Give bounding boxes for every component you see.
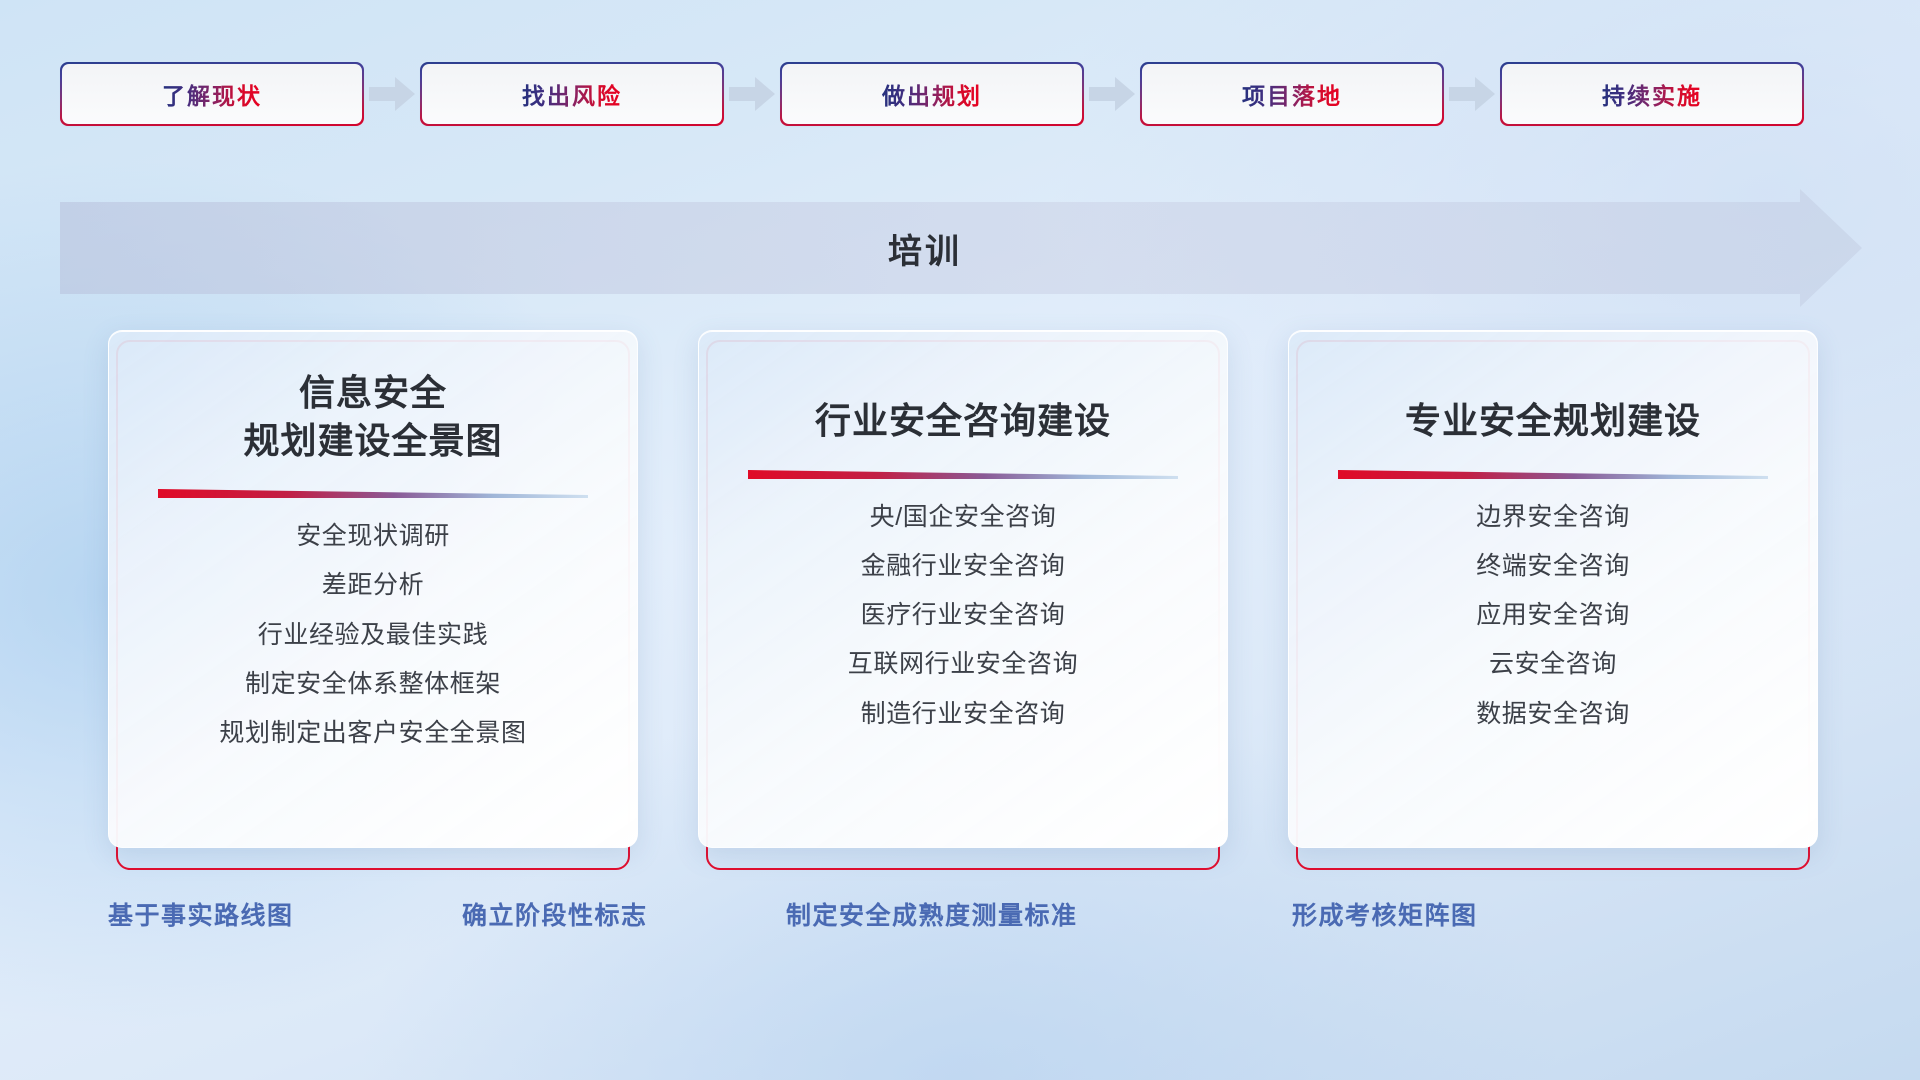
card-list: 央/国企安全咨询 金融行业安全咨询 医疗行业安全咨询 互联网行业安全咨询 制造行…	[848, 497, 1078, 735]
list-item: 金融行业安全咨询	[861, 546, 1066, 587]
list-item: 医疗行业安全咨询	[861, 595, 1066, 636]
card-surface[interactable]: 信息安全 规划建设全景图 安全现状调研 差距分析 行业经验及最佳实践 制定安全体…	[108, 330, 638, 848]
gradient-divider-icon	[158, 486, 588, 502]
gradient-divider-icon	[1338, 467, 1768, 483]
card-2: 行业安全咨询建设 央/国企安全咨询 金融行业安全咨询 医疗行业安全咨询 互联网行…	[698, 330, 1228, 870]
card-1: 信息安全 规划建设全景图 安全现状调研 差距分析 行业经验及最佳实践 制定安全体…	[108, 330, 638, 870]
list-item: 互联网行业安全咨询	[848, 644, 1078, 685]
card-surface[interactable]: 专业安全规划建设 边界安全咨询 终端安全咨询 应用安全咨询 云安全咨询 数据安全…	[1288, 330, 1818, 848]
card-title: 专业安全规划建设	[1405, 369, 1701, 445]
gradient-divider-icon	[748, 467, 1178, 483]
list-item: 应用安全咨询	[1476, 595, 1630, 636]
list-item: 制造行业安全咨询	[861, 694, 1066, 735]
arrow-right-icon	[1082, 64, 1142, 124]
step-box-1[interactable]: 了解现状	[62, 64, 362, 124]
step-label: 持续实施	[1602, 77, 1702, 111]
arrow-right-icon	[1442, 64, 1502, 124]
step-label: 找出风险	[522, 77, 622, 111]
footer-label-row: 基于事实路线图 确立阶段性标志 制定安全成熟度测量标准 形成考核矩阵图	[0, 896, 1920, 956]
step-box-3[interactable]: 做出规划	[782, 64, 1082, 124]
list-item: 云安全咨询	[1489, 644, 1617, 685]
arrow-right-icon	[362, 64, 422, 124]
card-title: 行业安全咨询建设	[815, 369, 1111, 445]
step-box-2[interactable]: 找出风险	[422, 64, 722, 124]
list-item: 数据安全咨询	[1476, 694, 1630, 735]
banner-title: 培训	[60, 202, 1860, 294]
list-item: 终端安全咨询	[1476, 546, 1630, 587]
step-box-5[interactable]: 持续实施	[1502, 64, 1802, 124]
footer-label-3: 制定安全成熟度测量标准	[786, 896, 1078, 932]
arrow-right-icon	[722, 64, 782, 124]
list-item: 央/国企安全咨询	[870, 497, 1057, 538]
card-list: 安全现状调研 差距分析 行业经验及最佳实践 制定安全体系整体框架 规划制定出客户…	[219, 516, 526, 754]
step-label: 了解现状	[162, 77, 262, 111]
list-item: 安全现状调研	[296, 516, 450, 557]
list-item: 行业经验及最佳实践	[258, 615, 488, 656]
list-item: 规划制定出客户安全全景图	[219, 713, 526, 754]
step-label: 做出规划	[882, 77, 982, 111]
card-list: 边界安全咨询 终端安全咨询 应用安全咨询 云安全咨询 数据安全咨询	[1476, 497, 1630, 735]
step-label: 项目落地	[1242, 77, 1342, 111]
list-item: 边界安全咨询	[1476, 497, 1630, 538]
card-surface[interactable]: 行业安全咨询建设 央/国企安全咨询 金融行业安全咨询 医疗行业安全咨询 互联网行…	[698, 330, 1228, 848]
footer-label-2: 确立阶段性标志	[462, 896, 648, 932]
list-item: 差距分析	[322, 565, 424, 606]
training-banner: 培训	[60, 202, 1860, 294]
list-item: 制定安全体系整体框架	[245, 664, 501, 705]
card-3: 专业安全规划建设 边界安全咨询 终端安全咨询 应用安全咨询 云安全咨询 数据安全…	[1288, 330, 1818, 870]
card-row: 信息安全 规划建设全景图 安全现状调研 差距分析 行业经验及最佳实践 制定安全体…	[108, 330, 1848, 870]
step-box-4[interactable]: 项目落地	[1142, 64, 1442, 124]
card-title: 信息安全 规划建设全景图	[243, 369, 502, 464]
footer-label-1: 基于事实路线图	[108, 896, 294, 932]
footer-label-4: 形成考核矩阵图	[1292, 896, 1478, 932]
process-step-row: 了解现状 找出风险 做出规划 项目落地 持续实施	[62, 64, 1862, 124]
